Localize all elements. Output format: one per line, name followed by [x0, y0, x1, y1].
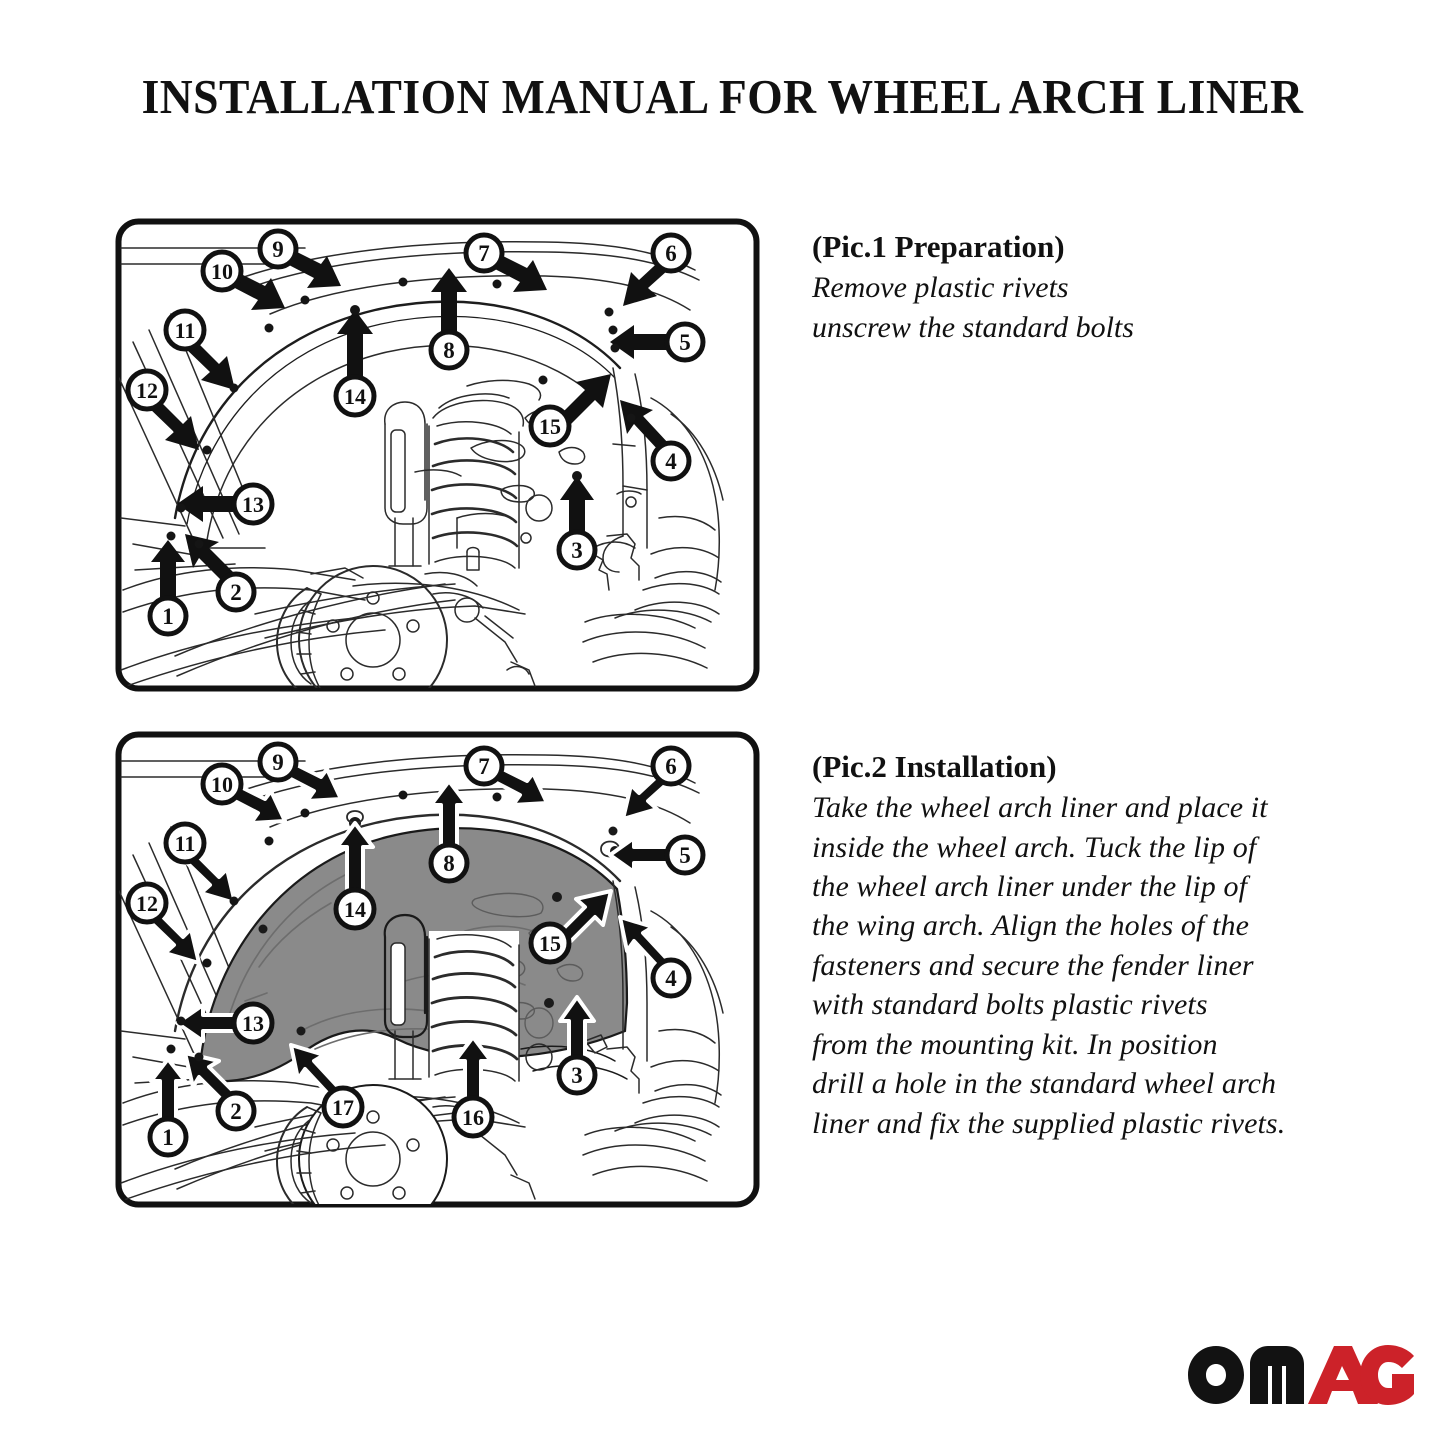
- diagram-panel-pic1: 1 2 3 4: [115, 218, 760, 692]
- callout-label-13: 13: [242, 492, 264, 517]
- callout-label-17: 17: [332, 1095, 354, 1120]
- page-root: INSTALLATION MANUAL FOR WHEEL ARCH LINER: [0, 0, 1445, 1445]
- callout-label-14: 14: [344, 384, 366, 409]
- callout-label-15: 15: [539, 414, 561, 439]
- logo-letter-m: [1250, 1346, 1304, 1404]
- caption-pic1: (Pic.1 Preparation) Remove plastic rivet…: [812, 228, 1392, 347]
- caption-line: fasteners and secure the fender liner: [812, 946, 1392, 985]
- callout-label-12: 12: [136, 891, 158, 916]
- caption-line: the wing arch. Align the holes of the: [812, 906, 1392, 945]
- callout-label-11: 11: [175, 831, 196, 856]
- caption-line: unscrew the standard bolts: [812, 308, 1392, 347]
- page-title: INSTALLATION MANUAL FOR WHEEL ARCH LINER: [51, 68, 1395, 125]
- callout-label-13: 13: [242, 1011, 264, 1036]
- callout-label-7: 7: [478, 754, 490, 779]
- callout-label-9: 9: [272, 750, 284, 775]
- callout-label-8: 8: [443, 338, 455, 363]
- caption-body-pic1: Remove plastic rivets unscrew the standa…: [812, 268, 1392, 347]
- callout-label-1: 1: [162, 604, 174, 629]
- caption-heading-pic1: (Pic.1 Preparation): [812, 228, 1392, 266]
- callout-label-16: 16: [462, 1105, 484, 1130]
- callout-label-12: 12: [136, 378, 158, 403]
- caption-line: inside the wheel arch. Tuck the lip of: [812, 828, 1392, 867]
- callout-label-10: 10: [211, 259, 233, 284]
- caption-pic2: (Pic.2 Installation) Take the wheel arch…: [812, 748, 1392, 1143]
- caption-line: Remove plastic rivets: [812, 268, 1392, 307]
- caption-body-pic2: Take the wheel arch liner and place it i…: [812, 788, 1392, 1143]
- callout-label-4: 4: [665, 449, 677, 474]
- callout-label-3: 3: [571, 538, 583, 563]
- caption-line: from the mounting kit. In position: [812, 1025, 1392, 1064]
- caption-heading-pic2: (Pic.2 Installation): [812, 748, 1392, 786]
- callout-label-11: 11: [175, 318, 196, 343]
- callout-label-8: 8: [443, 851, 455, 876]
- callout-label-6: 6: [665, 241, 677, 266]
- omac-logo: [1186, 1344, 1416, 1406]
- callout-label-5: 5: [679, 843, 691, 868]
- callout-label-15: 15: [539, 931, 561, 956]
- callout-label-2: 2: [230, 1099, 242, 1124]
- callout-label-3: 3: [571, 1063, 583, 1088]
- callout-label-10: 10: [211, 772, 233, 797]
- caption-line: drill a hole in the standard wheel arch: [812, 1064, 1392, 1103]
- callout-label-6: 6: [665, 754, 677, 779]
- caption-line: Take the wheel arch liner and place it: [812, 788, 1392, 827]
- callout-label-7: 7: [478, 241, 490, 266]
- callout-label-5: 5: [679, 330, 691, 355]
- logo-letter-o: [1188, 1346, 1244, 1404]
- logo-letter-c: [1360, 1345, 1414, 1405]
- callout-label-9: 9: [272, 237, 284, 262]
- caption-line: with standard bolts plastic rivets: [812, 985, 1392, 1024]
- callout-label-2: 2: [230, 580, 242, 605]
- callout-label-4: 4: [665, 966, 677, 991]
- caption-line: the wheel arch liner under the lip of: [812, 867, 1392, 906]
- caption-line: liner and fix the supplied plastic rivet…: [812, 1104, 1392, 1143]
- callout-label-14: 14: [344, 897, 366, 922]
- callout-label-1: 1: [162, 1125, 174, 1150]
- diagram-panel-pic2: 1 2 3 4: [115, 731, 760, 1208]
